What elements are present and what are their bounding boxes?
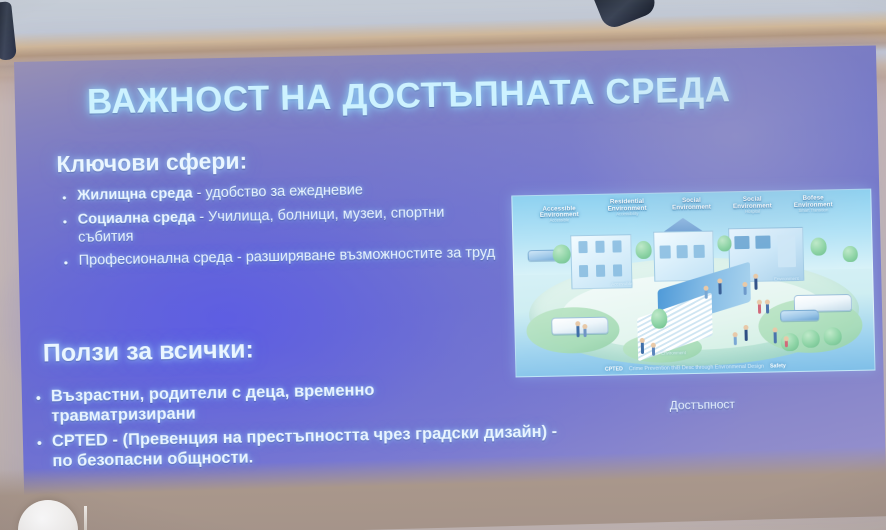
tree-icon [810,237,827,255]
list-item: • Възрастни, родители с деца, временно т… [36,378,477,427]
illustration-label-bofese: Bofese Environment Smart Transition [770,195,856,213]
cptd-acronym: CPTED [605,366,623,372]
illustration-caption: Достъпност [622,396,782,413]
bullet-marker: • [37,435,42,452]
section-heading-key-areas: Ключови сфери: [56,148,247,179]
accessibility-illustration: Accessible Environment Accessible Reside… [511,189,875,378]
list-item-label: Жилищна среда [77,186,193,204]
person-icon [745,329,748,341]
list-item-text: Възрастни, родители с деца, временно тра… [51,381,375,426]
list-item: • Жилищна среда - удобство за ежедневие [62,180,492,206]
person-icon [583,328,586,337]
list-item-text: Професионална среда - разширяване възмож… [79,245,496,269]
person-icon [718,282,721,294]
cptd-expansion: Crime Prevention thiB Desc through Envro… [629,364,764,373]
list-item: • Социална среда - Училища, болници, муз… [63,204,494,248]
section-heading-benefits: Ползи за всички: [43,335,255,368]
tree-icon [781,333,799,351]
bullet-marker: • [64,256,69,271]
person-icon [576,325,579,337]
wheelchair-user-icon [704,290,707,299]
page-title: ВАЖНОСТ НА ДОСТЪПНАТА СРЕДА [87,69,808,123]
list-item: • Професионална среда - разширяване възм… [64,245,509,272]
tree-icon [823,327,841,345]
person-icon [765,303,768,313]
wheelchair-user-icon [744,286,747,295]
list-item-label: Социална среда [78,210,196,228]
tree-icon [635,241,652,259]
cptd-tail: Safety [770,363,786,369]
bullet-marker: • [63,215,68,230]
tree-icon [802,329,820,347]
tree-icon [843,246,858,262]
tree-icon [651,309,668,329]
person-icon [773,332,776,344]
vehicle-van-left [551,317,609,334]
stand-pole [84,506,87,530]
projected-slide: ВАЖНОСТ НА ДОСТЪПНАТА СРЕДА Ключови сфер… [14,45,886,503]
bullet-marker: • [36,390,41,407]
child-icon [784,341,787,348]
list-item-text: - удобство за ежедневие [192,182,363,201]
bullet-marker: • [62,191,67,206]
vehicle-car-right [780,309,820,321]
